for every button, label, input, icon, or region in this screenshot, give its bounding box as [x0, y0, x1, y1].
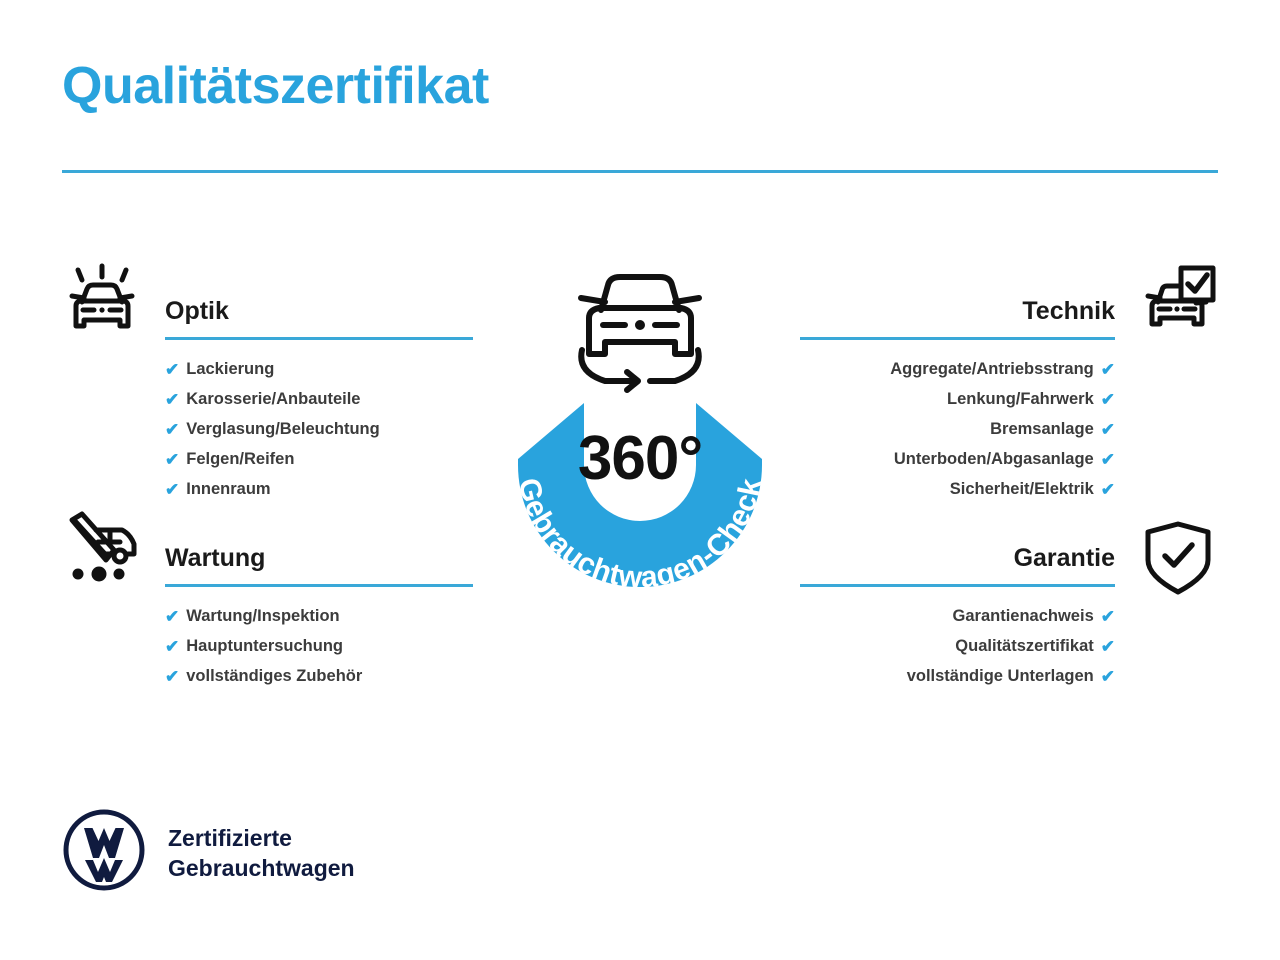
- check-icon: ✔: [1101, 391, 1115, 408]
- page-title: Qualitätszertifikat: [62, 58, 489, 115]
- section-garantie-divider: [800, 584, 1115, 587]
- section-wartung-list: ✔ Wartung/Inspektion ✔ Hauptuntersuchung…: [165, 601, 473, 691]
- section-optik-title: Optik: [165, 296, 473, 326]
- list-item: ✔ Hauptuntersuchung: [165, 631, 473, 661]
- list-item: ✔ Felgen/Reifen: [165, 444, 473, 474]
- check-icon: ✔: [1101, 638, 1115, 655]
- vw-certified-line1: Zertifizierte: [168, 823, 355, 853]
- list-item: ✔ vollständiges Zubehör: [165, 661, 473, 691]
- check-icon: ✔: [165, 481, 179, 498]
- badge-center-label: 360°: [455, 428, 825, 490]
- vw-certified-lockup: Zertifizierte Gebrauchtwagen: [62, 808, 355, 897]
- shield-check-icon: [1140, 518, 1216, 603]
- check-icon: ✔: [165, 421, 179, 438]
- check-icon: ✔: [165, 638, 179, 655]
- list-item-label: vollständige Unterlagen: [907, 667, 1094, 686]
- vw-certified-text: Zertifizierte Gebrauchtwagen: [168, 823, 355, 883]
- list-item-label: Karosserie/Anbauteile: [186, 390, 360, 409]
- section-optik-list: ✔ Lackierung ✔ Karosserie/Anbauteile ✔ V…: [165, 354, 473, 504]
- list-item: Sicherheit/Elektrik ✔: [800, 474, 1115, 504]
- section-wartung-header: Wartung: [165, 543, 473, 587]
- section-technik-title: Technik: [800, 296, 1115, 326]
- list-item-label: Garantienachweis: [953, 607, 1094, 626]
- gebrauchtwagen-check-badge: Gebrauchtwagen-Check 360°: [455, 250, 825, 640]
- list-item: ✔ Innenraum: [165, 474, 473, 504]
- list-item: ✔ Lackierung: [165, 354, 473, 384]
- section-technik-list: Aggregate/Antriebsstrang ✔ Lenkung/Fahrw…: [800, 354, 1115, 504]
- list-item-label: Wartung/Inspektion: [186, 607, 339, 626]
- list-item-label: Bremsanlage: [990, 420, 1094, 439]
- check-icon: ✔: [1101, 668, 1115, 685]
- section-garantie-header: Garantie: [800, 543, 1115, 587]
- check-icon: ✔: [165, 608, 179, 625]
- section-optik-divider: [165, 337, 473, 340]
- list-item: Unterboden/Abgasanlage ✔: [800, 444, 1115, 474]
- check-icon: ✔: [1101, 481, 1115, 498]
- section-optik-header: Optik: [165, 296, 473, 340]
- check-icon: ✔: [1101, 421, 1115, 438]
- car-service-pen-icon: [62, 508, 144, 593]
- check-icon: ✔: [1101, 451, 1115, 468]
- car-shine-icon: [62, 262, 142, 347]
- section-technik: Technik Aggregate/Antriebsstrang ✔ Lenku…: [800, 296, 1115, 504]
- list-item-label: vollständiges Zubehör: [186, 667, 362, 686]
- section-garantie-title: Garantie: [800, 543, 1115, 573]
- check-icon: ✔: [165, 361, 179, 378]
- section-technik-divider: [800, 337, 1115, 340]
- list-item-label: Aggregate/Antriebsstrang: [890, 360, 1094, 379]
- check-icon: ✔: [165, 668, 179, 685]
- list-item-label: Sicherheit/Elektrik: [950, 480, 1094, 499]
- check-icon: ✔: [1101, 361, 1115, 378]
- list-item-label: Lackierung: [186, 360, 274, 379]
- vw-logo: [62, 808, 146, 897]
- list-item-label: Hauptuntersuchung: [186, 637, 343, 656]
- check-icon: ✔: [1101, 608, 1115, 625]
- list-item-label: Verglasung/Beleuchtung: [186, 420, 379, 439]
- list-item: Bremsanlage ✔: [800, 414, 1115, 444]
- list-item: ✔ Karosserie/Anbauteile: [165, 384, 473, 414]
- car-checkbox-icon: [1136, 262, 1218, 347]
- header-divider: [62, 170, 1218, 173]
- section-wartung-divider: [165, 584, 473, 587]
- section-garantie-list: Garantienachweis ✔ Qualitätszertifikat ✔…: [800, 601, 1115, 691]
- list-item-label: Unterboden/Abgasanlage: [894, 450, 1094, 469]
- vw-certified-line2: Gebrauchtwagen: [168, 853, 355, 883]
- list-item-label: Innenraum: [186, 480, 270, 499]
- list-item: Qualitätszertifikat ✔: [800, 631, 1115, 661]
- check-icon: ✔: [165, 451, 179, 468]
- list-item-label: Felgen/Reifen: [186, 450, 294, 469]
- list-item: ✔ Wartung/Inspektion: [165, 601, 473, 631]
- list-item: Lenkung/Fahrwerk ✔: [800, 384, 1115, 414]
- section-wartung: Wartung ✔ Wartung/Inspektion ✔ Hauptunte…: [165, 543, 473, 691]
- list-item: Garantienachweis ✔: [800, 601, 1115, 631]
- list-item-label: Lenkung/Fahrwerk: [947, 390, 1094, 409]
- list-item: vollständige Unterlagen ✔: [800, 661, 1115, 691]
- check-icon: ✔: [165, 391, 179, 408]
- section-optik: Optik ✔ Lackierung ✔ Karosserie/Anbautei…: [165, 296, 473, 504]
- list-item: Aggregate/Antriebsstrang ✔: [800, 354, 1115, 384]
- list-item: ✔ Verglasung/Beleuchtung: [165, 414, 473, 444]
- section-garantie: Garantie Garantienachweis ✔ Qualitätszer…: [800, 543, 1115, 691]
- section-wartung-title: Wartung: [165, 543, 473, 573]
- car-rotate-icon: [581, 277, 699, 390]
- list-item-label: Qualitätszertifikat: [955, 637, 1093, 656]
- section-technik-header: Technik: [800, 296, 1115, 340]
